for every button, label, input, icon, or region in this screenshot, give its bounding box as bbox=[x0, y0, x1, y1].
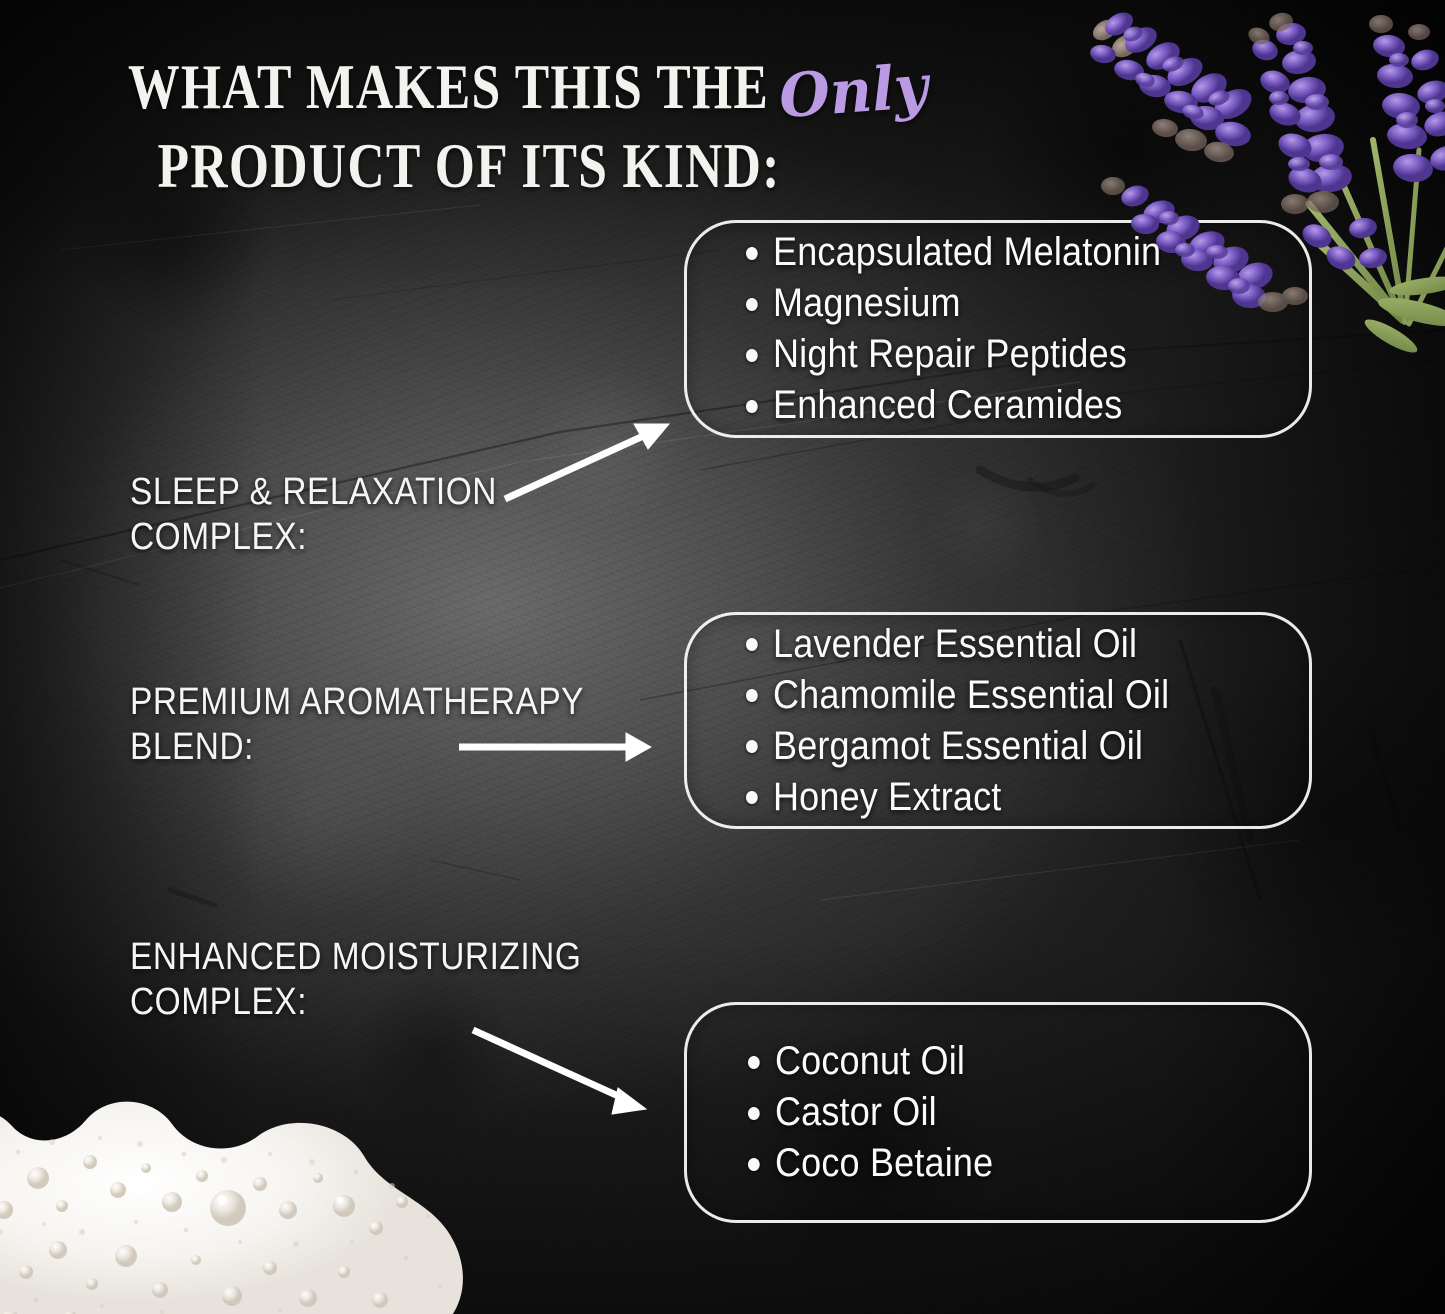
headline-accent-only: Only bbox=[777, 59, 929, 127]
section-label-aroma: PREMIUM AROMATHERAPY BLEND: bbox=[130, 680, 584, 770]
section-label-moisture: ENHANCED MOISTURIZING COMPLEX: bbox=[130, 935, 581, 1025]
list-item: Magnesium bbox=[773, 278, 1255, 329]
list-item: Night Repair Peptides bbox=[773, 329, 1255, 380]
list-item: Coconut Oil bbox=[775, 1036, 1256, 1087]
list-item: Encapsulated Melatonin bbox=[773, 227, 1255, 278]
ingredient-box-moisture: Coconut Oil Castor Oil Coco Betaine bbox=[684, 1002, 1312, 1223]
ingredient-list-moisture: Coconut Oil Castor Oil Coco Betaine bbox=[687, 1036, 1309, 1189]
list-item: Chamomile Essential Oil bbox=[773, 670, 1255, 721]
list-item: Castor Oil bbox=[775, 1087, 1256, 1138]
ingredient-box-sleep: Encapsulated Melatonin Magnesium Night R… bbox=[684, 220, 1312, 438]
page-title: WHAT MAKES THIS THEOnly PRODUCT OF ITS K… bbox=[128, 58, 1089, 197]
ingredient-box-aroma: Lavender Essential Oil Chamomile Essenti… bbox=[684, 612, 1312, 829]
headline-line2: PRODUCT OF ITS KIND: bbox=[158, 137, 946, 197]
ingredient-list-aroma: Lavender Essential Oil Chamomile Essenti… bbox=[687, 619, 1309, 823]
list-item: Coco Betaine bbox=[775, 1138, 1256, 1189]
headline-line1: WHAT MAKES THIS THE bbox=[128, 52, 769, 122]
section-label-sleep: SLEEP & RELAXATION COMPLEX: bbox=[130, 470, 497, 560]
ingredient-list-sleep: Encapsulated Melatonin Magnesium Night R… bbox=[687, 227, 1309, 431]
list-item: Enhanced Ceramides bbox=[773, 380, 1255, 431]
list-item: Bergamot Essential Oil bbox=[773, 721, 1255, 772]
list-item: Lavender Essential Oil bbox=[773, 619, 1255, 670]
list-item: Honey Extract bbox=[773, 772, 1255, 823]
ingredient-infographic: WHAT MAKES THIS THEOnly PRODUCT OF ITS K… bbox=[0, 0, 1445, 1314]
